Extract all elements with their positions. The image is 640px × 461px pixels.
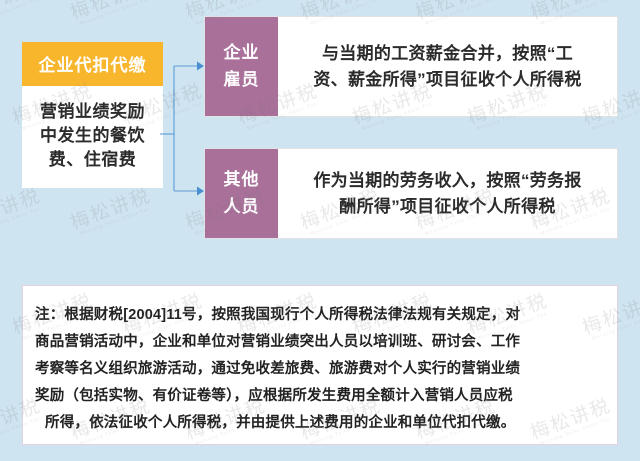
branch-text-line: 资、薪金所得”项目征收个人所得税 xyxy=(313,67,581,93)
source-card-header: 企业代扣代缴 xyxy=(22,42,163,86)
source-card-body: 营销业绩奖励 中发生的餐饮 费、住宿费 xyxy=(22,86,163,188)
branch-label-other: 其他 人员 xyxy=(205,149,278,238)
note-line: 奖励（包括实物、有价证卷等），应根据所发生费用全额计入营销人员应税 xyxy=(35,383,605,410)
note-text: 注：根据财税[2004]11号，按照我国现行个人所得税法律法规有关规定，对 商品… xyxy=(23,286,617,438)
source-card-body-line: 营销业绩奖励 xyxy=(30,100,155,124)
note-line: 注：根据财税[2004]11号，按照我国现行个人所得税法律法规有关规定，对 xyxy=(35,302,605,329)
source-card-body-line: 中发生的餐饮 xyxy=(30,124,155,148)
branch-text-other: 作为当期的劳务收入，按照“劳务报 酬所得”项目征收个人所得税 xyxy=(278,149,617,238)
branch-row-other: 其他 人员 作为当期的劳务收入，按照“劳务报 酬所得”项目征收个人所得税 xyxy=(204,148,618,239)
branch-text-line: 作为当期的劳务收入，按照“劳务报 xyxy=(313,168,581,194)
arrow-head-lower-icon xyxy=(197,187,204,196)
branch-label-employee: 企业 雇员 xyxy=(205,17,278,116)
note-panel: 注：根据财税[2004]11号，按照我国现行个人所得税法律法规有关规定，对 商品… xyxy=(22,285,618,445)
branch-label-line: 人员 xyxy=(224,194,260,220)
branch-text-line: 酬所得”项目征收个人所得税 xyxy=(313,194,581,220)
branch-row-employee: 企业 雇员 与当期的工资薪金合并，按照“工 资、薪金所得”项目征收个人所得税 xyxy=(204,16,618,117)
branch-text-employee: 与当期的工资薪金合并，按照“工 资、薪金所得”项目征收个人所得税 xyxy=(278,17,617,116)
branch-label-line: 雇员 xyxy=(224,67,260,93)
diagram-area: 企业代扣代缴 营销业绩奖励 中发生的餐饮 费、住宿费 企业 雇员 与当期的工资薪… xyxy=(0,0,640,270)
source-card-body-line: 费、住宿费 xyxy=(30,148,155,172)
source-card: 企业代扣代缴 营销业绩奖励 中发生的餐饮 费、住宿费 xyxy=(22,42,163,188)
branch-label-line: 企业 xyxy=(224,40,260,66)
branch-label-line: 其他 xyxy=(224,167,260,193)
branch-text-line: 与当期的工资薪金合并，按照“工 xyxy=(313,41,581,67)
note-line: 商品营销活动中，企业和单位对营销业绩突出人员以培训班、研讨会、工作 xyxy=(35,329,605,356)
arrow-head-upper-icon xyxy=(197,62,204,71)
note-line: 所得，依法征收个人所得税，并由提供上述费用的企业和单位代扣代缴。 xyxy=(35,410,605,437)
note-line: 考察等名义组织旅游活动，通过免收差旅费、旅游费对个人实行的营销业绩 xyxy=(35,356,605,383)
